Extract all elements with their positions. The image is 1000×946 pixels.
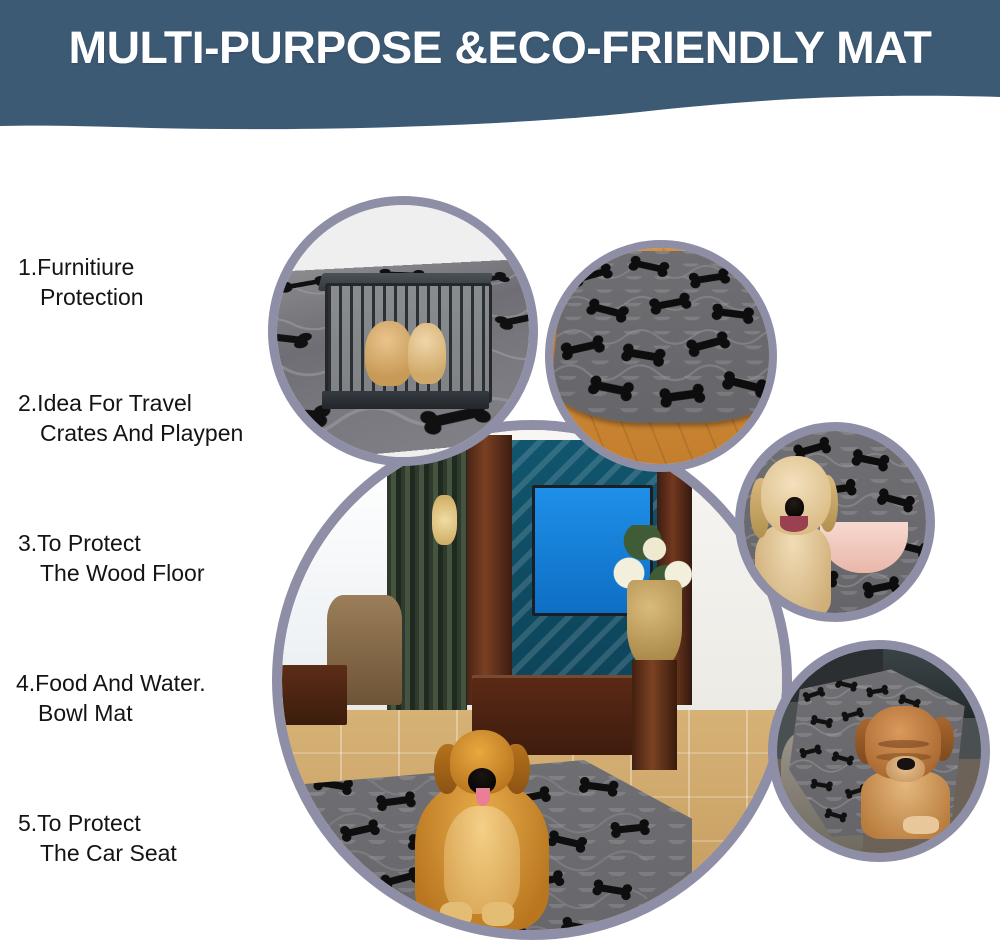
room-vase [627,580,682,670]
golden-retriever-lying [402,730,562,930]
dog-body [755,525,831,616]
living-room-scene [282,430,782,930]
dog-nose [785,497,804,517]
room-wood-column-left [467,435,512,705]
golden-retriever-standing [748,456,843,613]
dog-chest [444,806,521,914]
dog-paw-left [440,902,472,926]
puppy-nose [897,758,915,770]
page-title: MULTI-PURPOSE &ECO-FRIENDLY MAT [0,22,1000,74]
mastiff-puppy [855,706,961,837]
photo-circle-dog-crate [268,196,538,466]
puppy-wrinkle [878,740,929,748]
pet-mat-on-wood [548,251,777,423]
room-pedestal [632,660,677,770]
crate-scene [277,205,529,457]
crate-tray [322,391,488,409]
dog-paw-right [482,902,514,926]
dog-inside-crate [365,321,413,387]
puppy-paws [903,816,939,834]
room-side-table [282,665,347,725]
mat-bone-pattern [548,251,777,423]
dog-tongue [476,788,490,806]
photo-circle-wood-floor [545,240,777,472]
car-seat-scene [777,649,981,853]
photo-circle-car-seat [768,640,990,862]
room-lamp [432,495,457,545]
food-bowl-scene [744,431,926,613]
dog-open-mouth [780,516,808,532]
dog-inside-crate-second [408,323,446,383]
photo-collage [0,150,1000,946]
wood-floor-scene [553,248,769,464]
photo-circle-living-room [272,420,792,940]
photo-circle-food-bowl [735,422,935,622]
